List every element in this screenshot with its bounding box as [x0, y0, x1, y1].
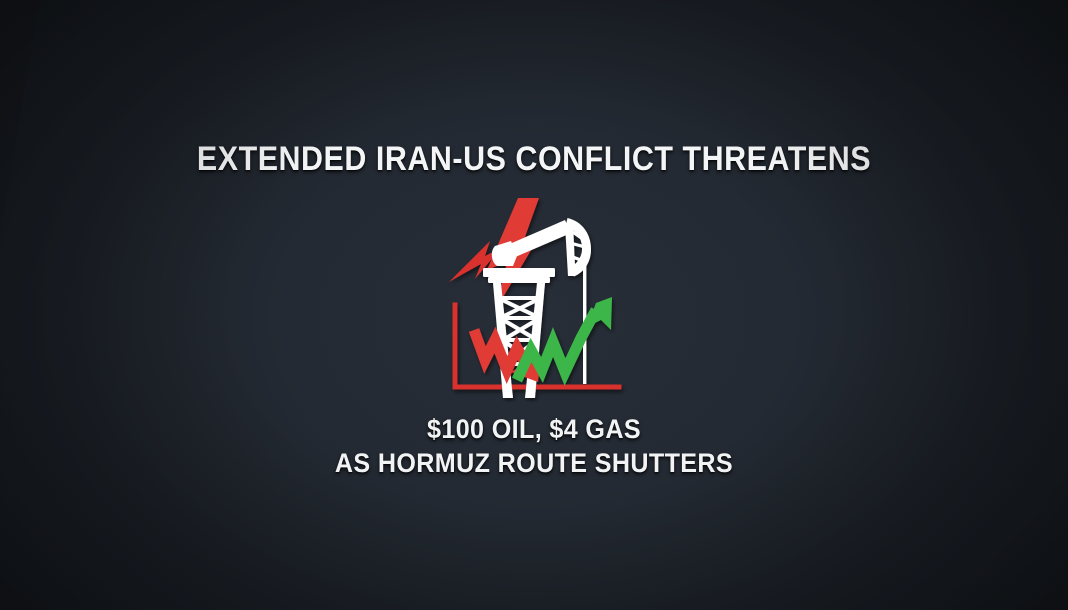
subtitle-line-1: $100 OIL, $4 GAS: [37, 412, 1030, 446]
page-title: EXTENDED IRAN-US CONFLICT THREATENS: [56, 139, 1012, 179]
news-title-card: EXTENDED IRAN-US CONFLICT THREATENS: [0, 0, 1068, 610]
subtitle-line-2: AS HORMUZ ROUTE SHUTTERS: [37, 446, 1030, 480]
oil-price-shock-graphic: [441, 190, 627, 402]
subtitle: $100 OIL, $4 GAS AS HORMUZ ROUTE SHUTTER…: [37, 412, 1030, 480]
